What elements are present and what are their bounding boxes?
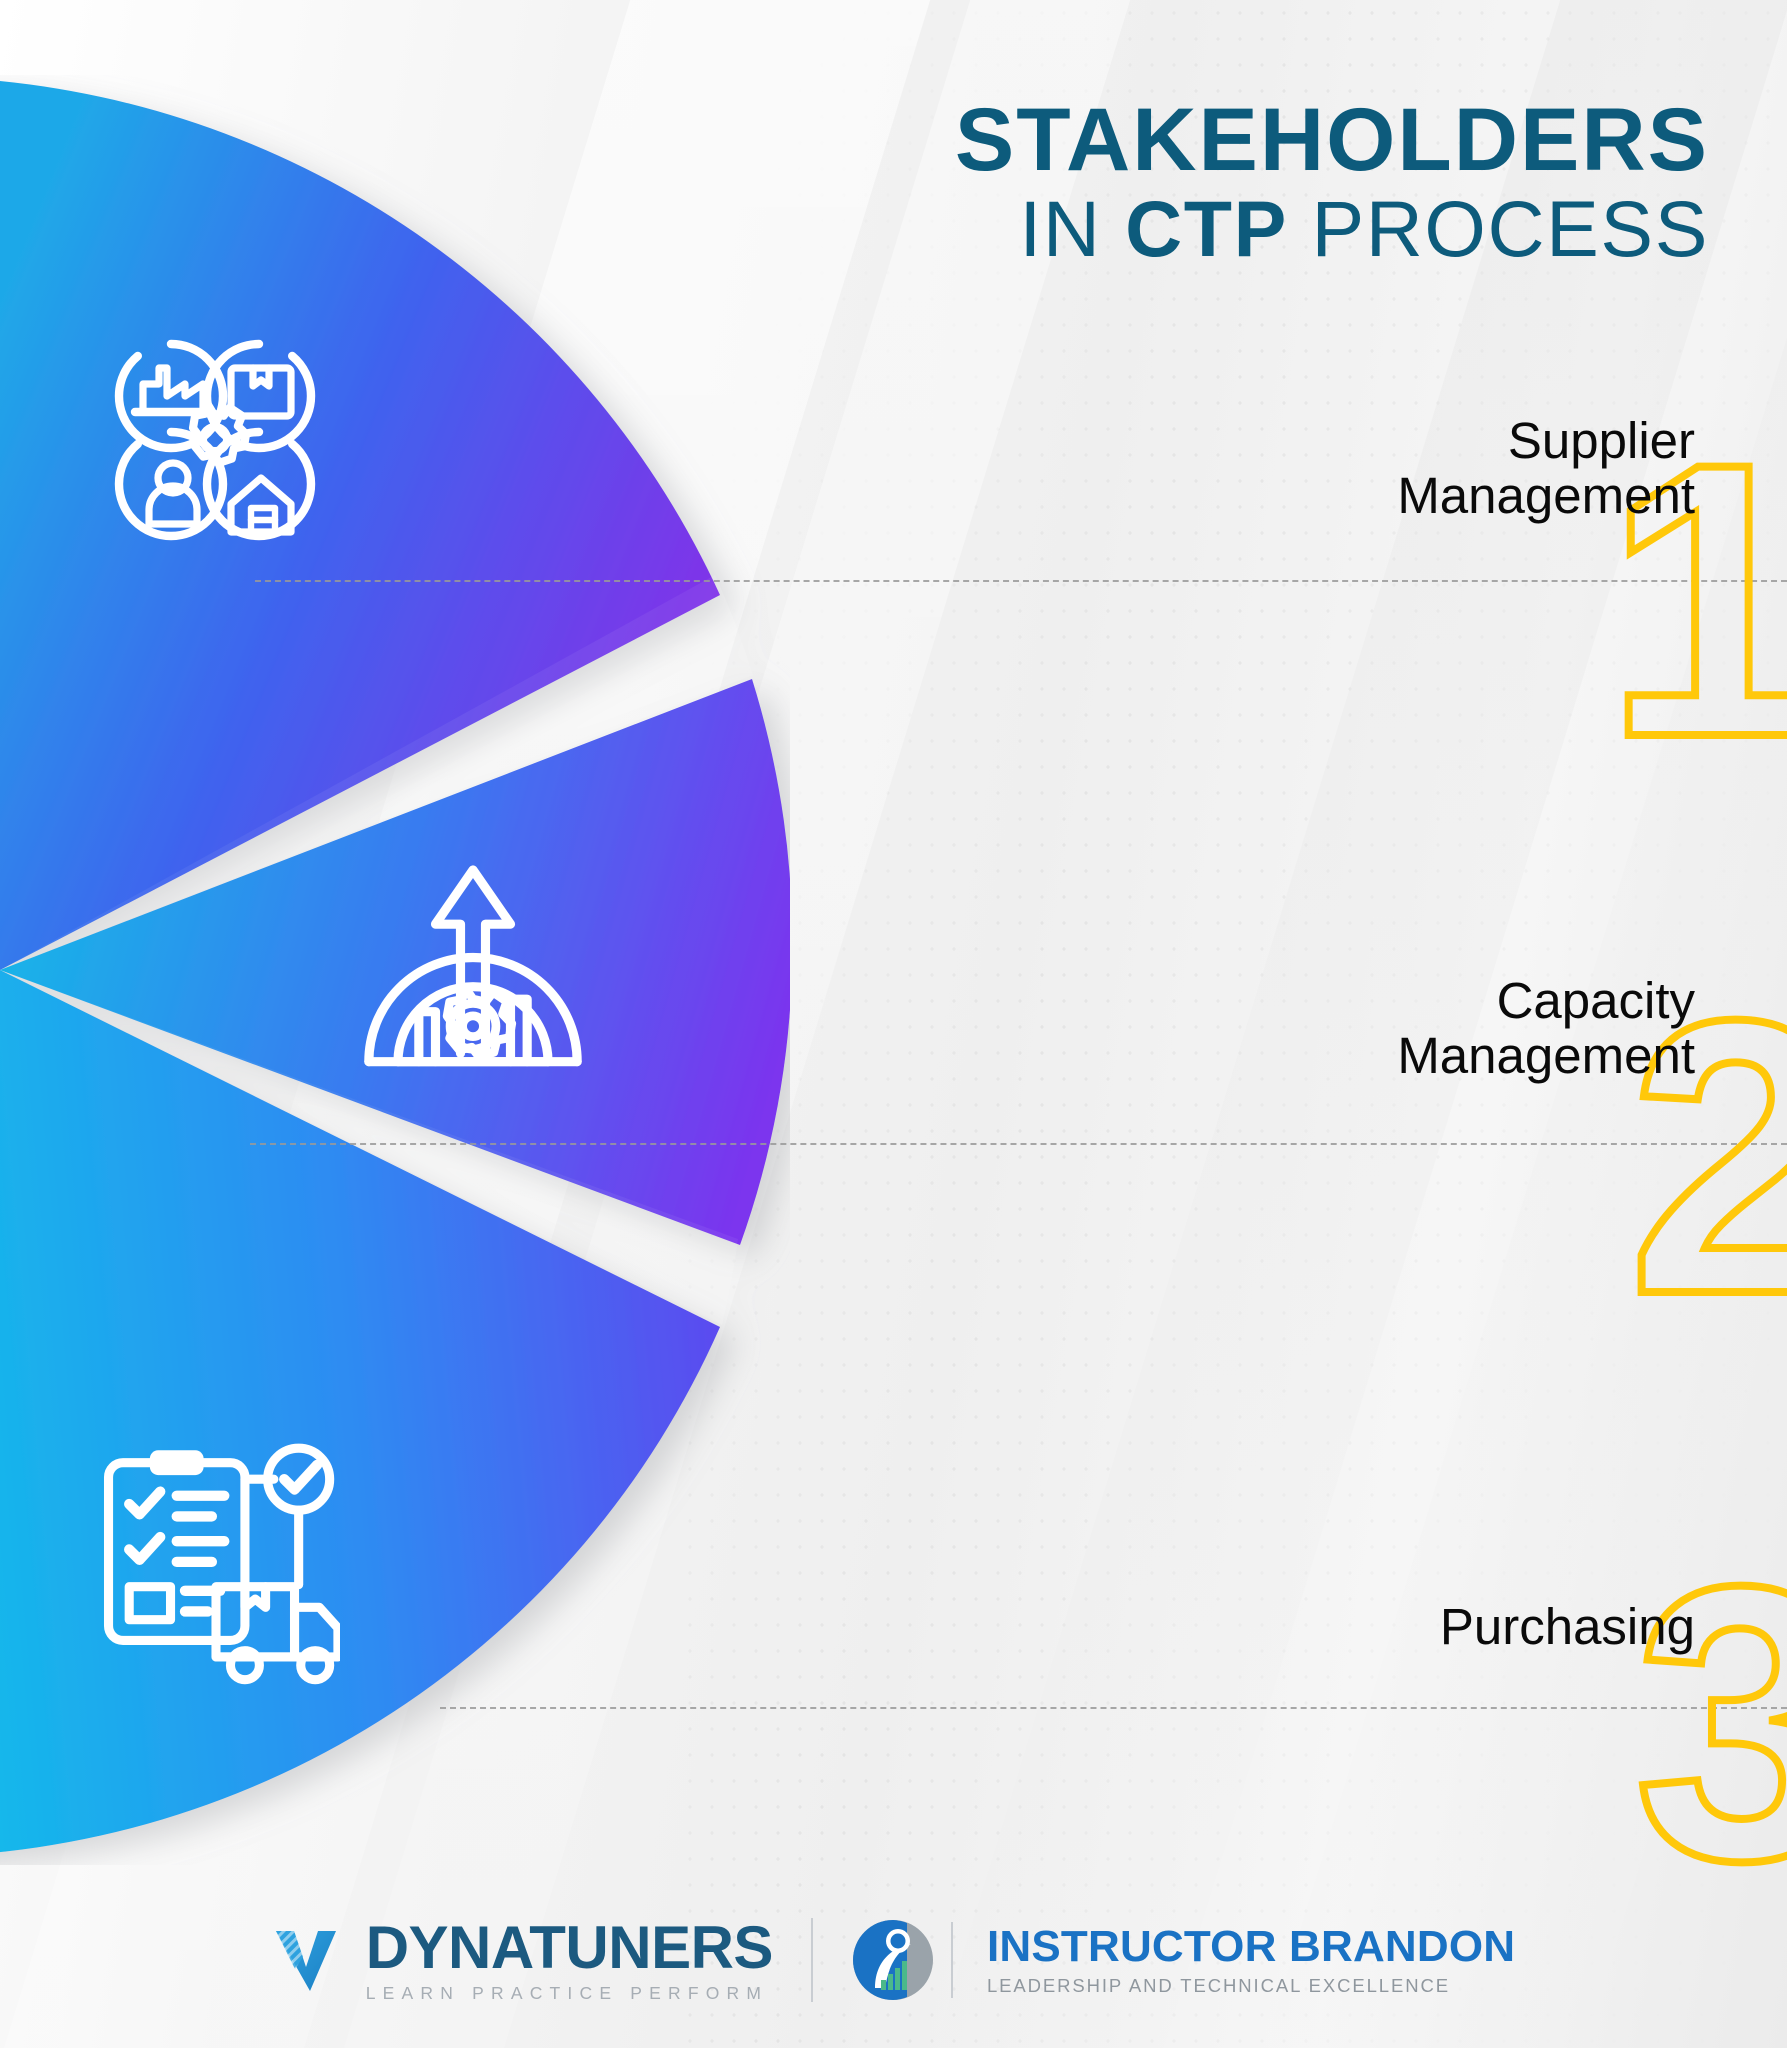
title-line-1: STAKEHOLDERS bbox=[955, 96, 1709, 183]
dynatuners-text: DYNATUNERS LEARN PRACTICE PERFORM bbox=[366, 1918, 773, 2003]
title-word-ctp: CTP bbox=[1125, 184, 1288, 273]
step-label-3-line-1: Purchasing bbox=[1440, 1600, 1695, 1655]
dynatuners-name: DYNATUNERS bbox=[366, 1918, 773, 1978]
divider-dashed-3 bbox=[440, 1707, 1787, 1709]
instructor-brandon-text: INSTRUCTOR BRANDON LEADERSHIP AND TECHNI… bbox=[987, 1925, 1515, 1996]
page-title: STAKEHOLDERS IN CTP PROCESS bbox=[955, 96, 1709, 268]
title-line-2: IN CTP PROCESS bbox=[955, 190, 1709, 267]
divider-dashed-2 bbox=[250, 1143, 1787, 1145]
purchase-order-delivery-icon bbox=[92, 1442, 340, 1690]
instructor-brandon-name: INSTRUCTOR BRANDON bbox=[987, 1925, 1515, 1969]
divider-dashed-1 bbox=[255, 580, 1787, 582]
supplier-network-icon bbox=[95, 320, 335, 560]
step-label-2-line-2: Management bbox=[1397, 1029, 1695, 1084]
dynatuners-tagline: LEARN PRACTICE PERFORM bbox=[366, 1985, 773, 2003]
brand-dynatuners: DYNATUNERS LEARN PRACTICE PERFORM bbox=[234, 1918, 811, 2003]
instructor-brandon-tagline: LEADERSHIP AND TECHNICAL EXCELLENCE bbox=[987, 1977, 1515, 1996]
brand-inner-divider bbox=[951, 1922, 953, 1998]
step-label-1: Supplier Management bbox=[1397, 414, 1695, 523]
title-word-process: PROCESS bbox=[1288, 184, 1709, 273]
step-label-1-line-1: Supplier bbox=[1397, 414, 1695, 469]
brand-instructor-brandon: INSTRUCTOR BRANDON LEADERSHIP AND TECHNI… bbox=[813, 1918, 1553, 2002]
step-label-2: Capacity Management bbox=[1397, 974, 1695, 1083]
dynatuners-check-logo bbox=[272, 1921, 350, 1999]
title-word-in: IN bbox=[1019, 184, 1125, 273]
step-label-1-line-2: Management bbox=[1397, 469, 1695, 524]
step-label-3: Purchasing bbox=[1440, 1600, 1695, 1655]
infographic-poster: STAKEHOLDERS IN CTP PROCESS 1 Supplier M… bbox=[0, 0, 1787, 2048]
step-label-2-line-1: Capacity bbox=[1397, 974, 1695, 1029]
footer-brand-bar: DYNATUNERS LEARN PRACTICE PERFORM bbox=[0, 1918, 1787, 2003]
step-number-3: 3 bbox=[1634, 1528, 1787, 1918]
capacity-growth-icon bbox=[348, 845, 598, 1095]
instructor-brandon-circle-logo bbox=[851, 1918, 935, 2002]
